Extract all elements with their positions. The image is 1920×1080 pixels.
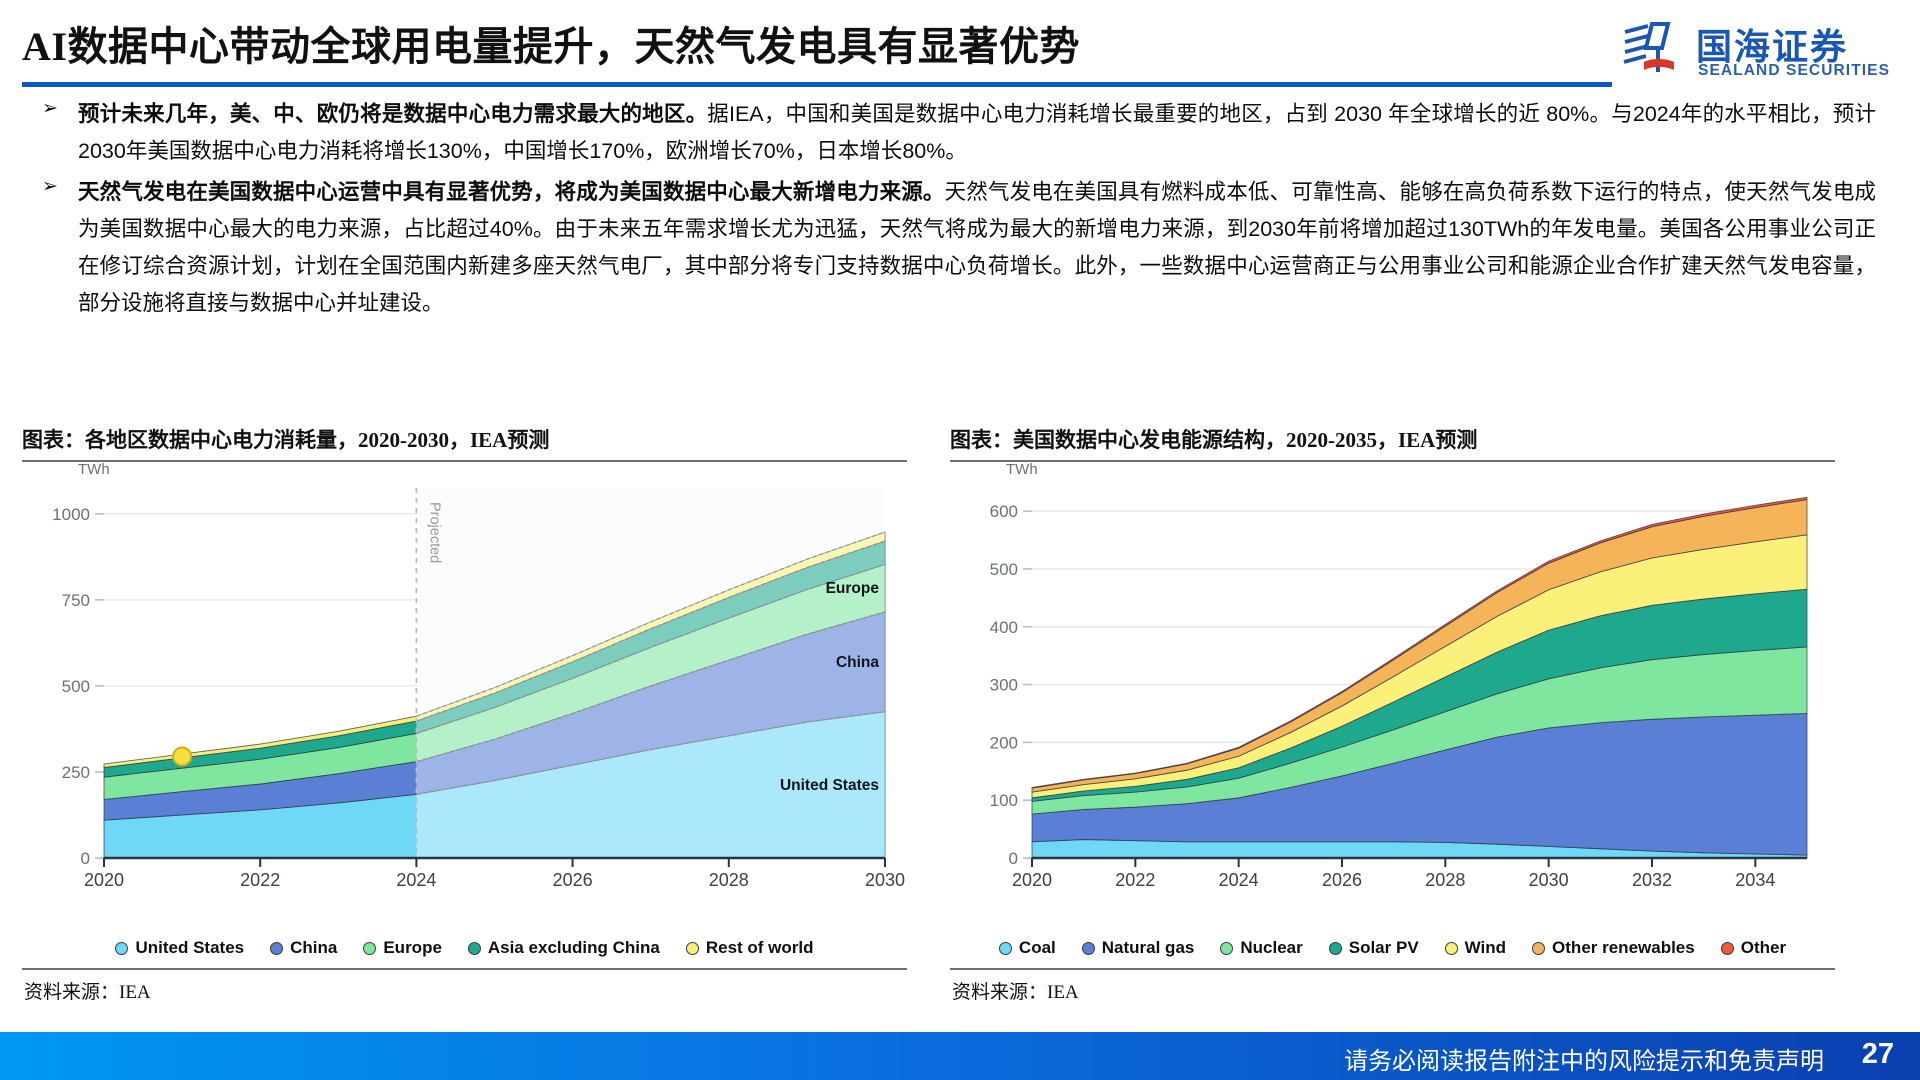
svg-text:400: 400	[990, 618, 1018, 637]
legend-swatch-icon	[1532, 942, 1545, 955]
svg-text:2032: 2032	[1632, 870, 1672, 890]
legend-label: Natural gas	[1102, 938, 1195, 958]
legend-label: Wind	[1465, 938, 1506, 958]
us-generation-mix-area-chart: TWh0100200300400500600202020222024202620…	[950, 458, 1835, 898]
chart-left-canvas: TWh02505007501000ProjectedUnited StatesC…	[22, 458, 907, 958]
sealand-logo-icon	[1622, 18, 1688, 80]
chart-title-left: 图表：各地区数据中心电力消耗量，2020-2030，IEA预测	[22, 424, 907, 460]
svg-text:2030: 2030	[1529, 870, 1569, 890]
paragraph-1-text: 预计未来几年，美、中、欧仍将是数据中心电力需求最大的地区。据IEA，中国和美国是…	[78, 96, 1920, 170]
svg-text:Europe: Europe	[826, 580, 880, 597]
svg-text:TWh: TWh	[78, 461, 110, 478]
svg-text:600: 600	[990, 502, 1018, 521]
chart-panel-us-mix: 图表：美国数据中心发电能源结构，2020-2035，IEA预测 TWh01002…	[950, 424, 1835, 1010]
svg-text:0: 0	[81, 849, 90, 868]
svg-text:2022: 2022	[240, 870, 280, 890]
chart-left-source: 资料来源：IEA	[24, 977, 151, 1004]
legend-item-coal[interactable]: Coal	[999, 938, 1056, 958]
page-title: AI数据中心带动全球用电量提升，天然气发电具有显著优势	[22, 14, 1080, 72]
paragraph-1-lead: 预计未来几年，美、中、欧仍将是数据中心电力需求最大的地区。	[78, 102, 707, 126]
chart-panel-regional: 图表：各地区数据中心电力消耗量，2020-2030，IEA预测 TWh02505…	[22, 424, 907, 1010]
chart-right-source: 资料来源：IEA	[952, 977, 1079, 1004]
svg-text:100: 100	[990, 791, 1018, 810]
svg-text:2020: 2020	[1012, 870, 1052, 890]
legend-item-other-renewables[interactable]: Other renewables	[1532, 938, 1695, 958]
legend-swatch-icon	[686, 942, 699, 955]
legend-label: Europe	[383, 938, 442, 958]
legend-item-europe[interactable]: Europe	[363, 938, 442, 958]
page-header: AI数据中心带动全球用电量提升，天然气发电具有显著优势 国海证券 SEALAND…	[0, 0, 1920, 92]
footer-page-number: 27	[1862, 1038, 1894, 1071]
legend-swatch-icon	[270, 942, 283, 955]
svg-text:1000: 1000	[52, 505, 90, 524]
legend-swatch-icon	[468, 942, 481, 955]
legend-swatch-icon	[1082, 942, 1095, 955]
svg-text:2028: 2028	[1425, 870, 1465, 890]
chart-right-legend: CoalNatural gasNuclearSolar PVWindOther …	[950, 938, 1835, 958]
svg-text:TWh: TWh	[1006, 461, 1038, 478]
legend-swatch-icon	[363, 942, 376, 955]
svg-text:250: 250	[62, 763, 90, 782]
legend-label: United States	[135, 938, 244, 958]
legend-label: Other renewables	[1552, 938, 1695, 958]
svg-text:2024: 2024	[396, 870, 436, 890]
panel-bottom-rule	[950, 968, 1835, 970]
bullet-paragraph-1: ➢ 预计未来几年，美、中、欧仍将是数据中心电力需求最大的地区。据IEA，中国和美…	[0, 96, 1920, 170]
legend-swatch-icon	[1721, 942, 1734, 955]
svg-text:2034: 2034	[1735, 870, 1775, 890]
legend-label: Coal	[1019, 938, 1056, 958]
paragraph-2-text: 天然气发电在美国数据中心运营中具有显著优势，将成为美国数据中心最大新增电力来源。…	[78, 174, 1920, 322]
svg-text:2024: 2024	[1219, 870, 1259, 890]
legend-item-asia-excluding-china[interactable]: Asia excluding China	[468, 938, 660, 958]
body-content: ➢ 预计未来几年，美、中、欧仍将是数据中心电力需求最大的地区。据IEA，中国和美…	[0, 96, 1920, 326]
svg-text:200: 200	[990, 733, 1018, 752]
regional-electricity-area-chart: TWh02505007501000ProjectedUnited StatesC…	[22, 458, 907, 898]
legend-swatch-icon	[999, 942, 1012, 955]
legend-label: Other	[1741, 938, 1786, 958]
chart-title-right: 图表：美国数据中心发电能源结构，2020-2035，IEA预测	[950, 424, 1835, 460]
bullet-paragraph-2: ➢ 天然气发电在美国数据中心运营中具有显著优势，将成为美国数据中心最大新增电力来…	[0, 174, 1920, 322]
legend-label: Nuclear	[1240, 938, 1302, 958]
legend-item-other[interactable]: Other	[1721, 938, 1786, 958]
chart-left-legend: United StatesChinaEuropeAsia excluding C…	[22, 938, 907, 958]
svg-text:2026: 2026	[1322, 870, 1362, 890]
svg-text:0: 0	[1009, 849, 1018, 868]
svg-text:China: China	[836, 654, 879, 671]
svg-text:2026: 2026	[553, 870, 593, 890]
legend-label: China	[290, 938, 337, 958]
svg-text:2028: 2028	[709, 870, 749, 890]
svg-text:500: 500	[990, 560, 1018, 579]
legend-label: Rest of world	[706, 938, 814, 958]
legend-swatch-icon	[1329, 942, 1342, 955]
svg-text:United States: United States	[780, 777, 879, 794]
legend-swatch-icon	[115, 942, 128, 955]
logo-company-name-en: SEALAND SECURITIES	[1698, 62, 1890, 80]
legend-swatch-icon	[1445, 942, 1458, 955]
svg-text:2020: 2020	[84, 870, 124, 890]
panel-bottom-rule	[22, 968, 907, 970]
legend-item-natural-gas[interactable]: Natural gas	[1082, 938, 1195, 958]
bullet-marker-icon: ➢	[42, 177, 58, 196]
page-footer: 请务必阅读报告附注中的风险提示和免责声明 27	[0, 1032, 1920, 1080]
chart-right-canvas: TWh0100200300400500600202020222024202620…	[950, 458, 1835, 958]
brand-logo: 国海证券 SEALAND SECURITIES	[1622, 16, 1904, 82]
legend-item-rest-of-world[interactable]: Rest of world	[686, 938, 814, 958]
legend-swatch-icon	[1220, 942, 1233, 955]
svg-text:500: 500	[62, 677, 90, 696]
svg-text:2030: 2030	[865, 870, 905, 890]
svg-text:750: 750	[62, 591, 90, 610]
legend-item-nuclear[interactable]: Nuclear	[1220, 938, 1302, 958]
title-underline-rule	[22, 82, 1612, 87]
svg-text:300: 300	[990, 676, 1018, 695]
bullet-marker-icon: ➢	[42, 99, 58, 118]
paragraph-2-lead: 天然气发电在美国数据中心运营中具有显著优势，将成为美国数据中心最大新增电力来源。	[78, 180, 945, 204]
legend-item-solar-pv[interactable]: Solar PV	[1329, 938, 1419, 958]
legend-item-united-states[interactable]: United States	[115, 938, 244, 958]
legend-item-china[interactable]: China	[270, 938, 337, 958]
legend-label: Solar PV	[1349, 938, 1419, 958]
svg-text:2022: 2022	[1115, 870, 1155, 890]
legend-item-wind[interactable]: Wind	[1445, 938, 1506, 958]
legend-label: Asia excluding China	[488, 938, 660, 958]
footer-disclaimer: 请务必阅读报告附注中的风险提示和免责声明	[1344, 1041, 1824, 1076]
